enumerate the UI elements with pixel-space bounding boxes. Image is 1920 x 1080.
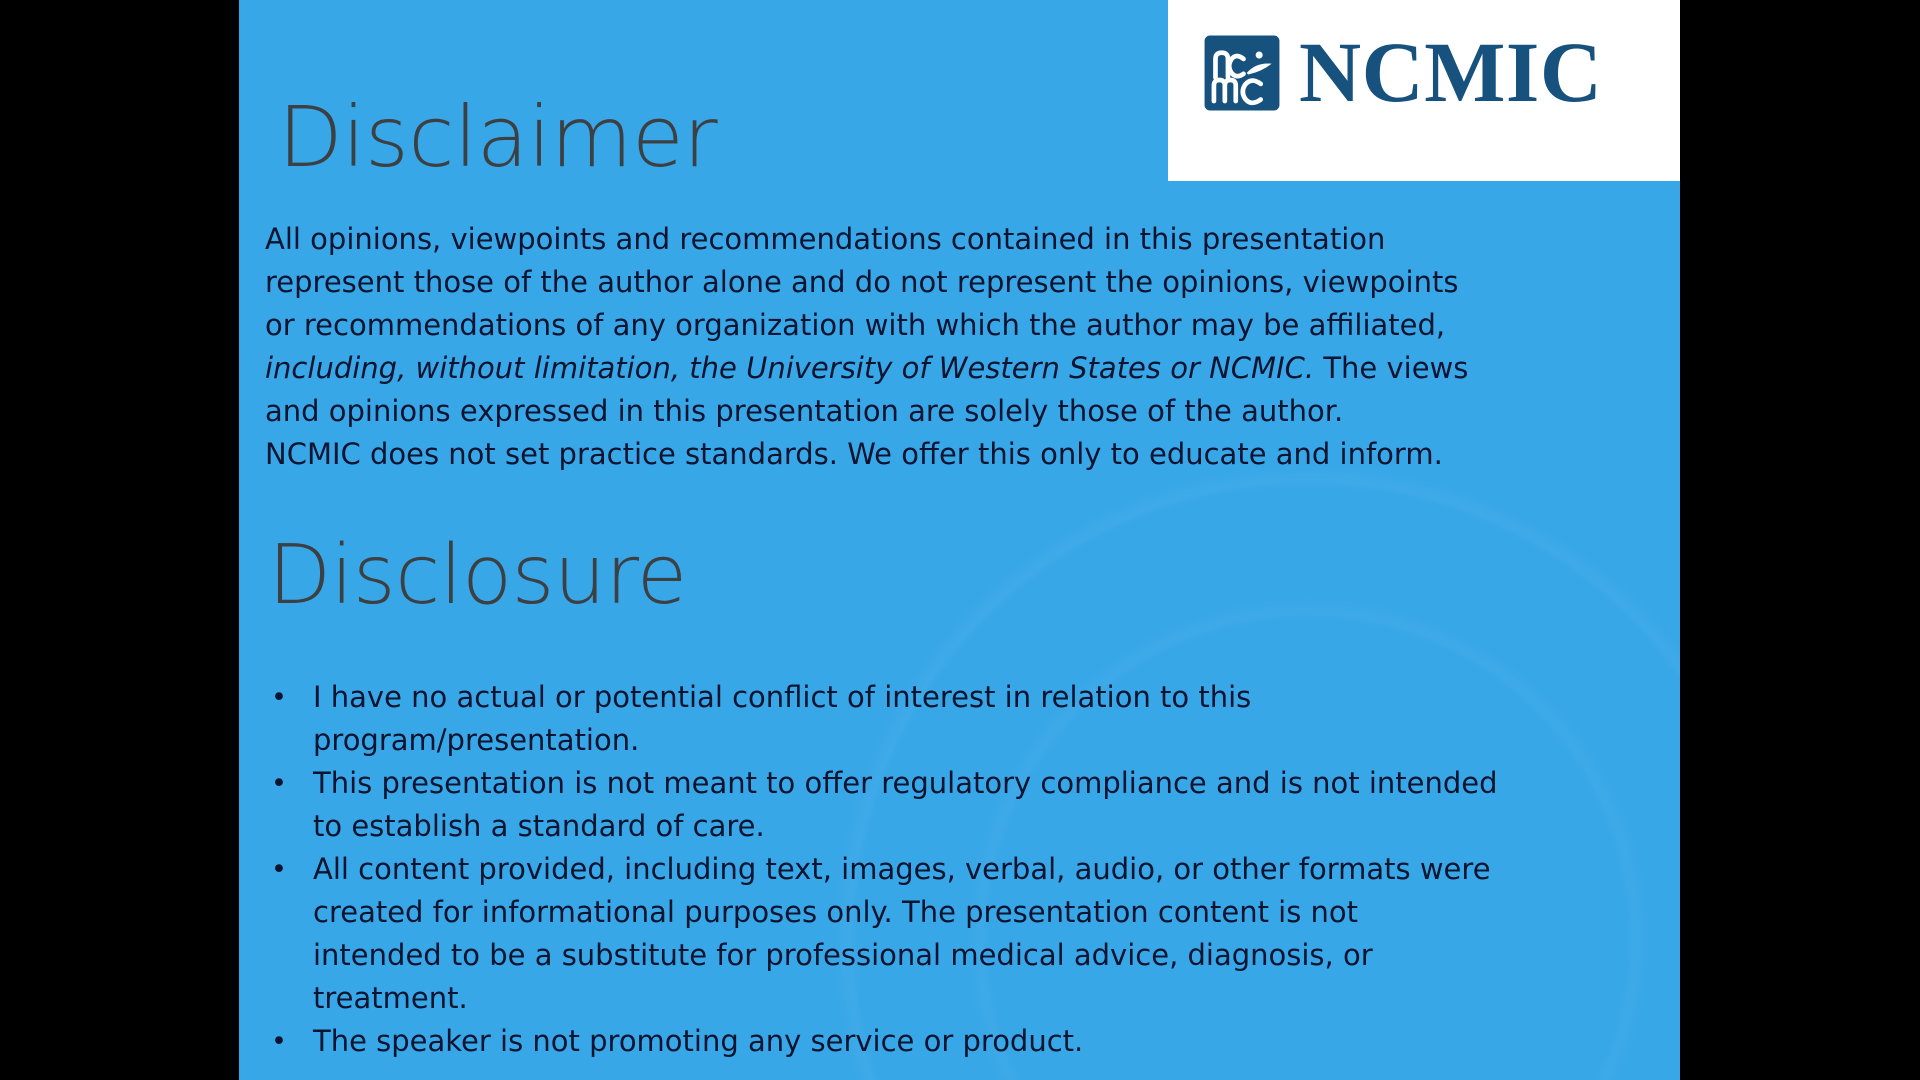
disclosure-bullet-item: •I have no actual or potential conflict … xyxy=(265,676,1605,762)
ncmic-monogram-icon xyxy=(1203,34,1281,112)
disclaimer-line: and opinions expressed in this presentat… xyxy=(265,390,1555,433)
disclaimer-text: All opinions, viewpoints and recommendat… xyxy=(265,222,1385,256)
disclosure-bullet-line: created for informational purposes only.… xyxy=(313,891,1605,934)
bullet-dot-icon: • xyxy=(265,762,313,805)
disclosure-bullet-text: I have no actual or potential conflict o… xyxy=(313,676,1605,762)
disclosure-bullet-text: All content provided, including text, im… xyxy=(313,848,1605,1020)
ncmic-logo-lockup: NCMIC xyxy=(1203,34,1602,112)
ncmic-wordmark: NCMIC xyxy=(1299,34,1602,111)
disclosure-bullet-item: •The speaker is not promoting any servic… xyxy=(265,1020,1605,1063)
disclosure-bullet-list: •I have no actual or potential conflict … xyxy=(265,676,1605,1063)
disclosure-bullet-line: program/presentation. xyxy=(313,719,1605,762)
disclosure-bullet-line: This presentation is not meant to offer … xyxy=(313,762,1605,805)
disclaimer-line: NCMIC does not set practice standards. W… xyxy=(265,433,1555,476)
disclosure-bullet-item: •All content provided, including text, i… xyxy=(265,848,1605,1020)
disclosure-bullet-text: The speaker is not promoting any service… xyxy=(313,1020,1605,1063)
disclosure-bullet-line: treatment. xyxy=(313,977,1605,1020)
disclaimer-text: NCMIC does not set practice standards. W… xyxy=(265,437,1443,471)
disclaimer-line: or recommendations of any organization w… xyxy=(265,304,1555,347)
disclosure-bullet-line: intended to be a substitute for professi… xyxy=(313,934,1605,977)
bullet-dot-icon: • xyxy=(265,848,313,891)
disclaimer-line: including, without limitation, the Unive… xyxy=(265,347,1555,390)
bullet-dot-icon: • xyxy=(265,1020,313,1063)
disclaimer-paragraph: All opinions, viewpoints and recommendat… xyxy=(265,218,1555,476)
disclosure-bullet-line: The speaker is not promoting any service… xyxy=(313,1020,1605,1063)
disclosure-bullet-line: to establish a standard of care. xyxy=(313,805,1605,848)
disclosure-bullet-item: •This presentation is not meant to offer… xyxy=(265,762,1605,848)
bullet-dot-icon: • xyxy=(265,676,313,719)
disclaimer-line: represent those of the author alone and … xyxy=(265,261,1555,304)
disclaimer-text: and opinions expressed in this presentat… xyxy=(265,394,1343,428)
disclaimer-heading: Disclaimer xyxy=(278,88,717,186)
disclosure-bullet-text: This presentation is not meant to offer … xyxy=(313,762,1605,848)
disclosure-bullet-line: I have no actual or potential conflict o… xyxy=(313,676,1605,719)
slide-viewport: NCMIC Disclaimer All opinions, viewpoint… xyxy=(0,0,1920,1080)
disclosure-heading: Disclosure xyxy=(268,528,687,623)
disclaimer-text: represent those of the author alone and … xyxy=(265,265,1458,299)
disclaimer-emphasis-text: including, without limitation, the Unive… xyxy=(265,351,1314,385)
ncmic-logo-plate: NCMIC xyxy=(1168,0,1680,181)
disclaimer-text: or recommendations of any organization w… xyxy=(265,308,1445,342)
presentation-slide: NCMIC Disclaimer All opinions, viewpoint… xyxy=(239,0,1680,1080)
disclaimer-text: The views xyxy=(1314,351,1468,385)
disclaimer-line: All opinions, viewpoints and recommendat… xyxy=(265,218,1555,261)
disclosure-bullet-line: All content provided, including text, im… xyxy=(313,848,1605,891)
